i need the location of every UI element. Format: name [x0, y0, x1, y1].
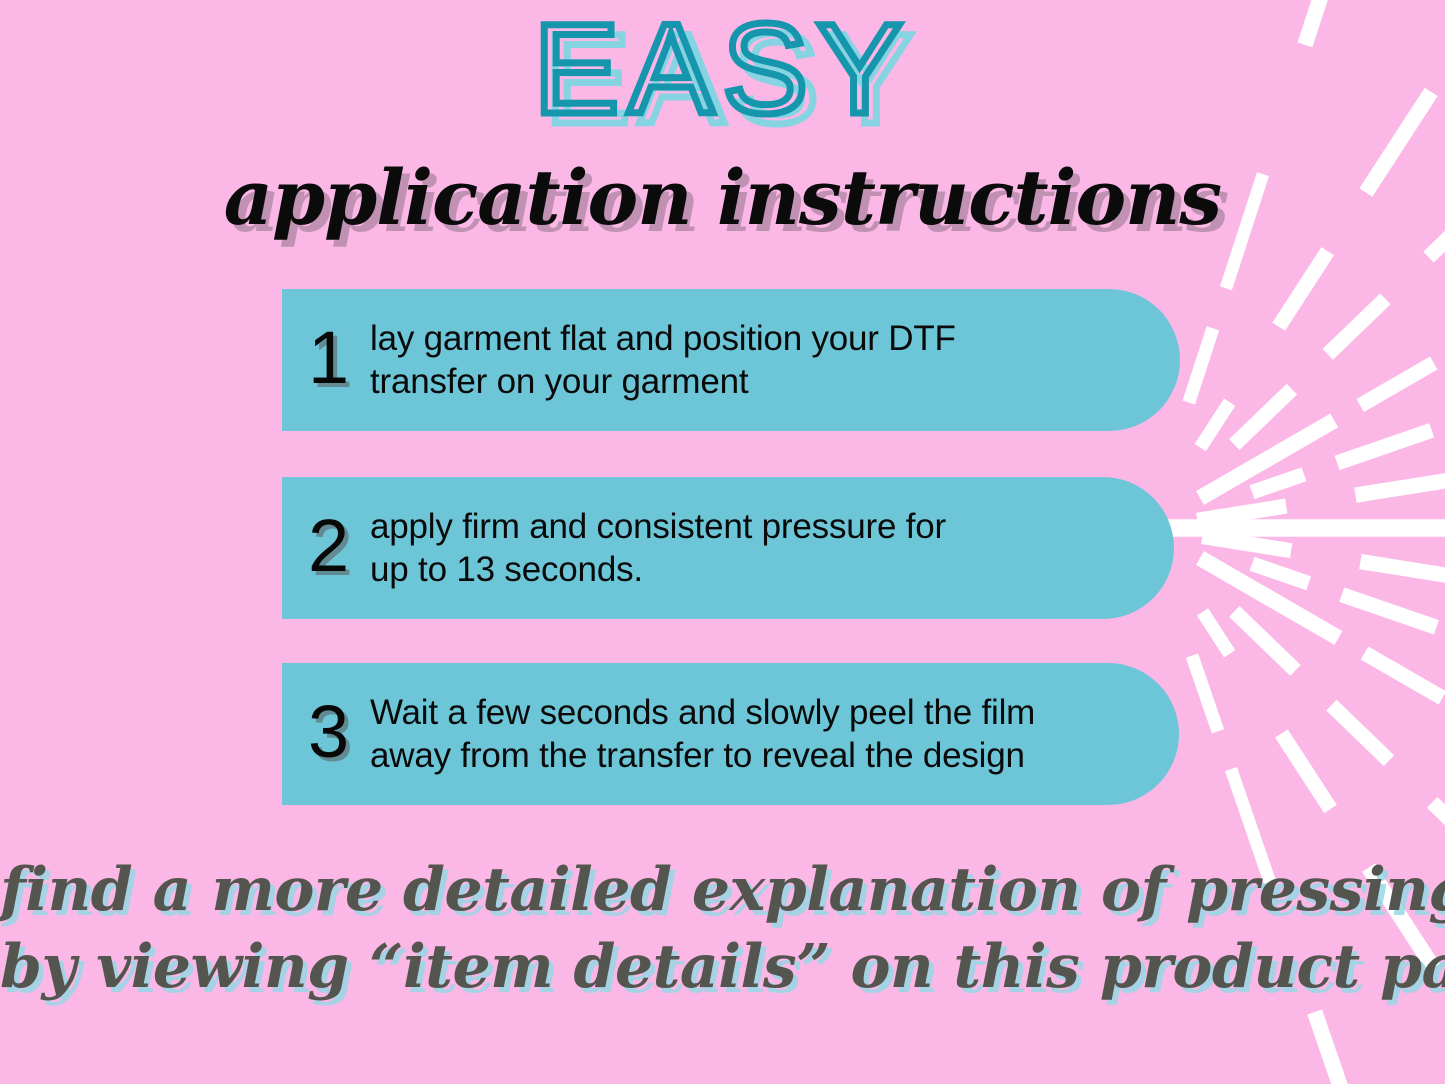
step-text-2-line1: apply firm and consistent pressure for: [370, 507, 946, 546]
step-number-3: 3: [308, 695, 370, 769]
ray-segment-10-1: [1331, 705, 1389, 761]
footer-note: find a more detailed explanation of pres…: [0, 852, 1445, 1006]
ray-segment-9-1: [1365, 653, 1443, 698]
ray-segment-11-1: [1281, 734, 1330, 810]
ray-segment-10-0: [1234, 611, 1295, 670]
step-text-2: apply firm and consistent pressure for u…: [370, 505, 946, 591]
step-text-3-line1: Wait a few seconds and slowly peel the f…: [370, 693, 1035, 732]
ray-segment-12-0: [1192, 656, 1218, 732]
ray-segment-4-1: [1337, 430, 1432, 463]
step-text-3: Wait a few seconds and slowly peel the f…: [370, 691, 1035, 777]
ray-segment-0-0: [1189, 328, 1213, 402]
ray-segment-10-2: [1432, 802, 1445, 858]
ray-segment-4-0: [1252, 474, 1304, 492]
step-text-1-line2: transfer on your garment: [370, 362, 748, 401]
ray-segment-8-0: [1252, 564, 1309, 584]
step-number-2: 2: [308, 509, 370, 583]
ray-segment-1-1: [1279, 251, 1328, 327]
poster-canvas: EASY EASY application instructions 1 lay…: [0, 0, 1445, 1084]
ray-segment-3-0: [1200, 421, 1334, 499]
ray-segment-9-0: [1200, 558, 1339, 638]
step-item-1: 1 lay garment flat and position your DTF…: [282, 289, 1180, 431]
ray-segment-7-0: [1202, 537, 1291, 551]
page-title-easy: EASY: [0, 6, 1445, 134]
step-text-2-line2: up to 13 seconds.: [370, 550, 643, 589]
step-text-3-line2: away from the transfer to reveal the des…: [370, 736, 1025, 775]
ray-segment-2-0: [1234, 389, 1292, 445]
ray-segment-3-1: [1360, 363, 1434, 406]
ray-segment-5-0: [1197, 506, 1286, 520]
step-text-1: lay garment flat and position your DTF t…: [370, 317, 956, 403]
steps-list: 1 lay garment flat and position your DTF…: [282, 289, 1180, 805]
step-item-2: 2 apply firm and consistent pressure for…: [282, 477, 1174, 619]
ray-segment-1-0: [1200, 402, 1229, 447]
ray-segment-7-1: [1360, 562, 1445, 579]
ray-segment-5-1: [1355, 476, 1445, 495]
footer-note-line2: by viewing “item details” on this produc…: [0, 929, 1445, 1006]
step-item-3: 3 Wait a few seconds and slowly peel the…: [282, 663, 1179, 805]
ray-segment-8-1: [1342, 595, 1437, 628]
ray-segment-12-2: [1315, 1012, 1358, 1084]
ray-segment-11-0: [1203, 612, 1230, 654]
page-subtitle: application instructions: [0, 160, 1445, 236]
step-text-1-line1: lay garment flat and position your DTF: [370, 319, 956, 358]
ray-segment-2-1: [1328, 299, 1386, 355]
footer-note-line1: find a more detailed explanation of pres…: [0, 852, 1445, 929]
step-number-1: 1: [308, 321, 370, 395]
